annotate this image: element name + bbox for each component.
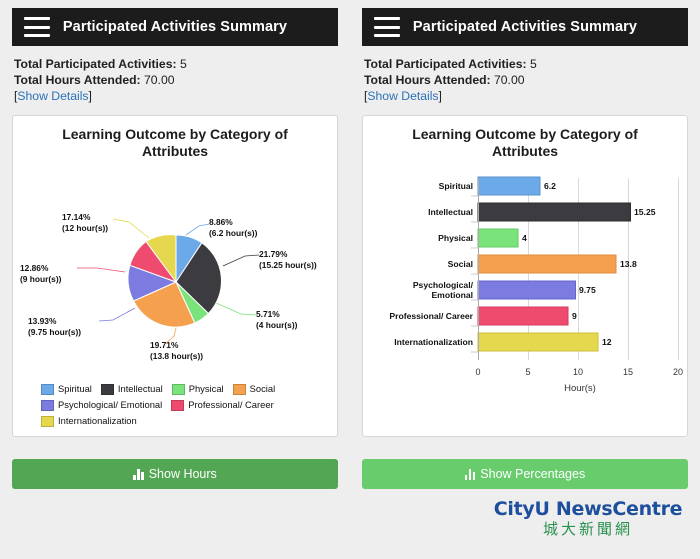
xtick-20: 20 — [673, 367, 683, 377]
logo-chinese-text: 城大新聞網 — [488, 520, 688, 539]
legend-label: Professional/ Career — [188, 398, 273, 412]
bracket-close: ] — [89, 89, 92, 103]
pie-label-hrs: (4 hour(s)) — [256, 320, 297, 331]
show-details-link[interactable]: Show Details — [17, 89, 88, 103]
legend-item-psychological[interactable]: Psychological/ Emotional — [41, 398, 162, 412]
panel-left: Participated Activities Summary Total Pa… — [0, 0, 350, 500]
legend-item-social[interactable]: Social — [233, 382, 276, 396]
total-hours-value: 70.00 — [144, 73, 175, 87]
bar-spiritual[interactable] — [478, 177, 540, 195]
show-hours-label: Show Hours — [149, 467, 217, 481]
pie-label-pct: 5.71% — [256, 309, 297, 320]
total-activities-label: Total Participated Activities: — [364, 57, 527, 71]
bar-value-internationalization: 12 — [602, 337, 612, 347]
bar-category-internationalization: Internationalization — [394, 337, 473, 347]
app-root: Participated Activities Summary Total Pa… — [0, 0, 700, 559]
bar-intellectual[interactable] — [478, 203, 631, 221]
bar-value-social: 13.8 — [620, 259, 637, 269]
legend-label: Psychological/ Emotional — [58, 398, 162, 412]
pie-label-pct: 17.14% — [62, 212, 108, 223]
total-activities-label: Total Participated Activities: — [14, 57, 177, 71]
bar-chart-icon — [133, 469, 144, 480]
page-title: Participated Activities Summary — [50, 19, 326, 35]
footer-logo: CityU NewsCentre 城大新聞網 — [488, 498, 688, 539]
pie-label-intellectual: 21.79% (15.25 hour(s)) — [259, 249, 317, 271]
total-hours-line: Total Hours Attended: 70.00 — [364, 72, 686, 88]
legend-label: Physical — [189, 382, 224, 396]
total-hours-line: Total Hours Attended: 70.00 — [14, 72, 336, 88]
bar-category-intellectual: Intellectual — [428, 207, 473, 217]
total-activities-line: Total Participated Activities: 5 — [364, 56, 686, 72]
legend-item-physical[interactable]: Physical — [172, 382, 224, 396]
total-hours-value: 70.00 — [494, 73, 525, 87]
bar-category-physical: Physical — [438, 233, 473, 243]
bar-chart-card: Learning Outcome by Category of Attribut… — [362, 115, 688, 437]
legend-item-professional[interactable]: Professional/ Career — [171, 398, 273, 412]
leader-line-physical — [216, 303, 256, 315]
legend-label: Internationalization — [58, 414, 137, 428]
bar-category-professional: Professional/ Career — [389, 311, 473, 321]
pie-label-hrs: (6.2 hour(s)) — [209, 228, 257, 239]
legend-label: Intellectual — [118, 382, 163, 396]
legend-label: Social — [250, 382, 276, 396]
pie-label-social: 19.71% (13.8 hour(s)) — [150, 340, 203, 362]
bar-chart-title: Learning Outcome by Category of Attribut… — [363, 116, 687, 160]
show-details-line: [Show Details] — [14, 88, 336, 105]
legend-label: Spiritual — [58, 382, 92, 396]
bar-physical[interactable] — [478, 229, 518, 247]
legend-swatch-icon — [101, 384, 114, 395]
leader-line-psychological — [99, 308, 135, 321]
show-percentages-button[interactable]: Show Percentages — [362, 459, 688, 489]
total-activities-value: 5 — [180, 57, 187, 71]
xtick-10: 10 — [573, 367, 583, 377]
bar-psychological[interactable] — [478, 281, 576, 299]
pie-label-internationalization: 17.14% (12 hour(s)) — [62, 212, 108, 234]
panel-right: Participated Activities Summary Total Pa… — [350, 0, 700, 500]
bar-xaxis-label: Hour(s) — [564, 383, 596, 394]
pie-label-pct: 19.71% — [150, 340, 203, 351]
bracket-close: ] — [439, 89, 442, 103]
pie-label-hrs: (9 hour(s)) — [20, 274, 61, 285]
bar-value-psychological: 9.75 — [579, 285, 596, 295]
pie-label-spiritual: 8.86% (6.2 hour(s)) — [209, 217, 257, 239]
legend-swatch-icon — [41, 384, 54, 395]
leader-line-internationalization — [113, 219, 149, 238]
legend-swatch-icon — [41, 400, 54, 411]
total-activities-line: Total Participated Activities: 5 — [14, 56, 336, 72]
pie-legend: Spiritual Intellectual Physical Social P… — [27, 382, 327, 428]
bar-internationalization[interactable] — [478, 333, 598, 351]
xtick-15: 15 — [623, 367, 633, 377]
pie-chart-title: Learning Outcome by Category of Attribut… — [13, 116, 337, 160]
bar-value-intellectual: 15.25 — [634, 207, 656, 217]
bar-category-spiritual: Spiritual — [439, 181, 473, 191]
legend-swatch-icon — [233, 384, 246, 395]
xtick-0: 0 — [475, 367, 480, 377]
pie-label-hrs: (15.25 hour(s)) — [259, 260, 317, 271]
bar-professional[interactable] — [478, 307, 568, 325]
show-hours-button[interactable]: Show Hours — [12, 459, 338, 489]
xtick-5: 5 — [525, 367, 530, 377]
show-percentages-label: Show Percentages — [480, 467, 585, 481]
bar-category-psychological: Psychological/ — [413, 280, 474, 290]
bar-chart-plot: 0 5 10 15 20 Hour(s) Spiritual Intellect… — [363, 160, 687, 437]
pie-label-pct: 21.79% — [259, 249, 317, 260]
leader-line-spiritual — [186, 224, 209, 235]
bar-value-spiritual: 6.2 — [544, 181, 556, 191]
summary-left: Total Participated Activities: 5 Total H… — [0, 46, 350, 109]
page-title: Participated Activities Summary — [400, 19, 676, 35]
pie-label-hrs: (12 hour(s)) — [62, 223, 108, 234]
pie-label-hrs: (9.75 hour(s)) — [28, 327, 81, 338]
bar-value-professional: 9 — [572, 311, 577, 321]
navbar-right: Participated Activities Summary — [362, 8, 688, 46]
summary-right: Total Participated Activities: 5 Total H… — [350, 46, 700, 109]
pie-label-pct: 13.93% — [28, 316, 81, 327]
legend-swatch-icon — [41, 416, 54, 427]
pie-label-pct: 12.86% — [20, 263, 61, 274]
pie-chart-card: Learning Outcome by Category of Attribut… — [12, 115, 338, 437]
pie-chart-plot: 8.86% (6.2 hour(s)) 21.79% (15.25 hour(s… — [13, 160, 337, 398]
bar-chart-icon — [465, 469, 476, 480]
pie-label-professional: 12.86% (9 hour(s)) — [20, 263, 61, 285]
total-activities-value: 5 — [530, 57, 537, 71]
legend-item-intellectual[interactable]: Intellectual — [101, 382, 163, 396]
legend-item-spiritual[interactable]: Spiritual — [41, 382, 92, 396]
pie-label-pct: 8.86% — [209, 217, 257, 228]
hamburger-icon[interactable] — [24, 17, 50, 37]
legend-item-internationalization[interactable]: Internationalization — [41, 414, 137, 428]
navbar-left: Participated Activities Summary — [12, 8, 338, 46]
leader-line-professional — [77, 268, 125, 272]
hamburger-icon[interactable] — [374, 17, 400, 37]
show-details-line: [Show Details] — [364, 88, 686, 105]
pie-label-psychological: 13.93% (9.75 hour(s)) — [28, 316, 81, 338]
bar-category-psychological-2: Emotional — [431, 290, 473, 300]
bar-social[interactable] — [478, 255, 616, 273]
pie-svg — [13, 160, 338, 398]
total-hours-label: Total Hours Attended: — [364, 73, 491, 87]
bar-svg: 0 5 10 15 20 Hour(s) Spiritual Intellect… — [363, 160, 688, 437]
leader-line-intellectual — [223, 255, 259, 266]
total-hours-label: Total Hours Attended: — [14, 73, 141, 87]
logo-english-text: CityU NewsCentre — [488, 498, 688, 520]
legend-swatch-icon — [171, 400, 184, 411]
pie-label-physical: 5.71% (4 hour(s)) — [256, 309, 297, 331]
show-details-link[interactable]: Show Details — [367, 89, 438, 103]
bar-value-physical: 4 — [522, 233, 527, 243]
pie-label-hrs: (13.8 hour(s)) — [150, 351, 203, 362]
bar-category-social: Social — [448, 259, 473, 269]
legend-swatch-icon — [172, 384, 185, 395]
